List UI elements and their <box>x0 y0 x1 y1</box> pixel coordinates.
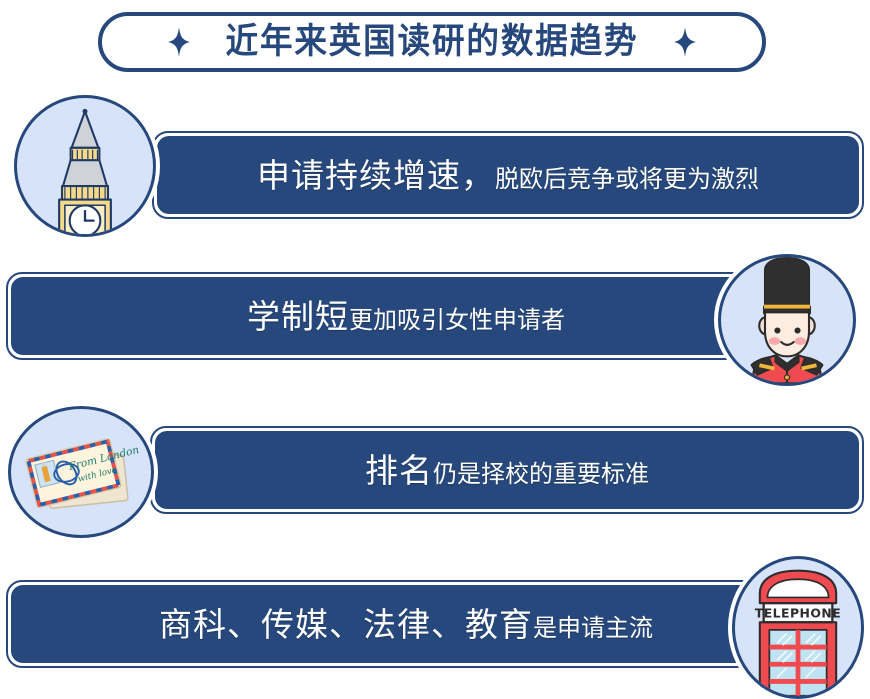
info-row-3: From London with love 排名仍是择校的重要标准 <box>0 404 870 544</box>
info-bar-1: 申请持续增速，脱欧后竞争或将更为激烈 <box>152 131 864 219</box>
info-bar-3: 排名仍是择校的重要标准 <box>150 426 864 514</box>
info-row-4: 商科、传媒、法律、教育是申请主流 <box>0 556 870 699</box>
info-row-2: 学制短更加吸引女性申请者 <box>0 254 870 390</box>
page-title: 近年来英国读研的数据趋势 <box>226 25 639 60</box>
airmail-envelope-icon: From London with love <box>8 406 154 538</box>
title-frame: 近年来英国读研的数据趋势 <box>98 12 766 72</box>
sparkle-right-icon <box>674 27 696 57</box>
info-bar-3-detail: 仍是择校的重要标准 <box>433 462 649 486</box>
info-bar-1-inner: 申请持续增速，脱欧后竞争或将更为激烈 <box>157 136 859 214</box>
info-bar-2: 学制短更加吸引女性申请者 <box>6 272 806 360</box>
info-bar-2-inner: 学制短更加吸引女性申请者 <box>11 277 801 355</box>
info-bar-1-detail: 脱欧后竞争或将更为激烈 <box>495 167 759 191</box>
page-title-banner: 近年来英国读研的数据趋势 <box>98 12 766 72</box>
sparkle-left-icon <box>168 27 190 57</box>
info-bar-4-text: 商科、传媒、法律、教育是申请主流 <box>159 608 653 641</box>
info-bar-3-emphasis: 排名 <box>365 454 433 487</box>
info-row-1: 申请持续增速，脱欧后竞争或将更为激烈 <box>0 93 870 243</box>
telephone-box-icon: TELEPHONE <box>732 556 864 699</box>
info-bar-2-detail: 更加吸引女性申请者 <box>349 308 565 332</box>
info-bar-3-text: 排名仍是择校的重要标准 <box>365 454 649 487</box>
info-bar-4-inner: 商科、传媒、法律、教育是申请主流 <box>11 585 801 663</box>
info-bar-1-emphasis: 申请持续增速， <box>257 159 495 192</box>
info-bar-3-inner: 排名仍是择校的重要标准 <box>155 431 859 509</box>
info-bar-2-emphasis: 学制短 <box>247 300 349 333</box>
telephone-sign-label: TELEPHONE <box>755 605 841 620</box>
info-bar-4: 商科、传媒、法律、教育是申请主流 <box>6 580 806 668</box>
info-bar-2-text: 学制短更加吸引女性申请者 <box>247 300 565 333</box>
big-ben-icon <box>14 95 156 237</box>
info-bar-1-text: 申请持续增速，脱欧后竞争或将更为激烈 <box>257 159 759 192</box>
royal-guard-icon <box>718 254 856 386</box>
info-bar-4-detail: 是申请主流 <box>533 616 653 640</box>
info-bar-4-emphasis: 商科、传媒、法律、教育 <box>159 608 533 641</box>
